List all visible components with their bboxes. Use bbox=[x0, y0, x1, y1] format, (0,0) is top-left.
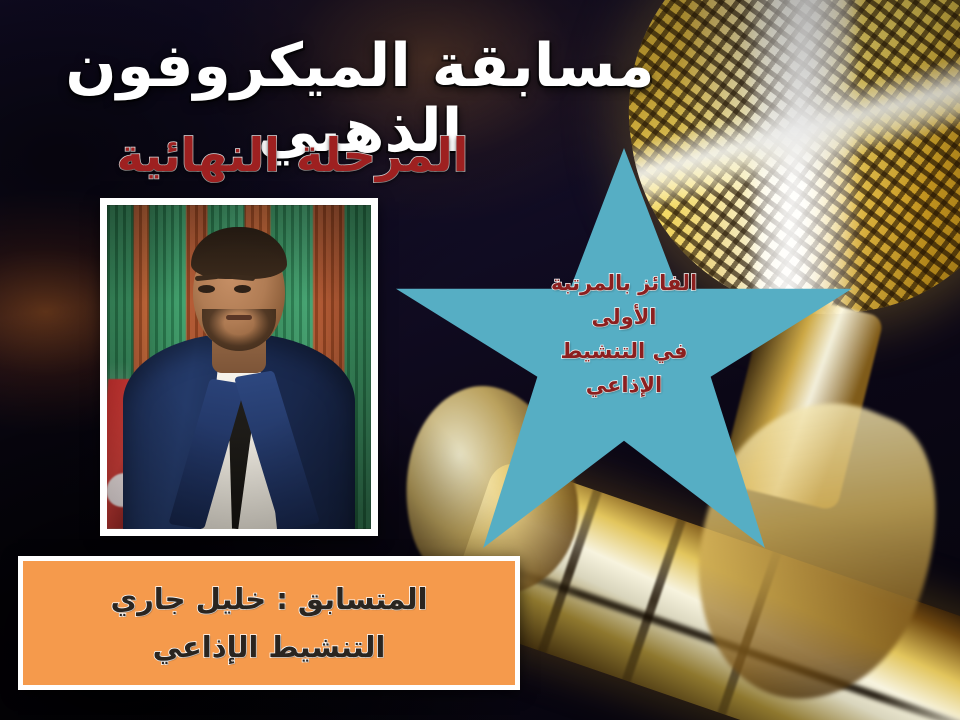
portrait-frame bbox=[100, 198, 378, 536]
star-badge: الفائز بالمرتبة الأولى في التنشيط الإذاع… bbox=[396, 148, 852, 548]
contestant-category-line: التنشيط الإذاعي bbox=[153, 630, 386, 664]
portrait-photo bbox=[107, 205, 371, 529]
poster-canvas: مسابقة الميكروفون الذهبي المرحلة النهائي… bbox=[0, 0, 960, 720]
star-line-2: الأولى bbox=[396, 300, 852, 334]
portrait-vignette bbox=[107, 205, 371, 529]
contestant-name-line: المتسابق : خليل جاري bbox=[111, 582, 428, 616]
contestant-banner: المتسابق : خليل جاري التنشيط الإذاعي bbox=[18, 556, 520, 690]
star-line-4: الإذاعي bbox=[396, 368, 852, 402]
star-line-1: الفائز بالمرتبة bbox=[396, 266, 852, 300]
star-award-text: الفائز بالمرتبة الأولى في التنشيط الإذاع… bbox=[396, 266, 852, 402]
star-line-3: في التنشيط bbox=[396, 334, 852, 368]
